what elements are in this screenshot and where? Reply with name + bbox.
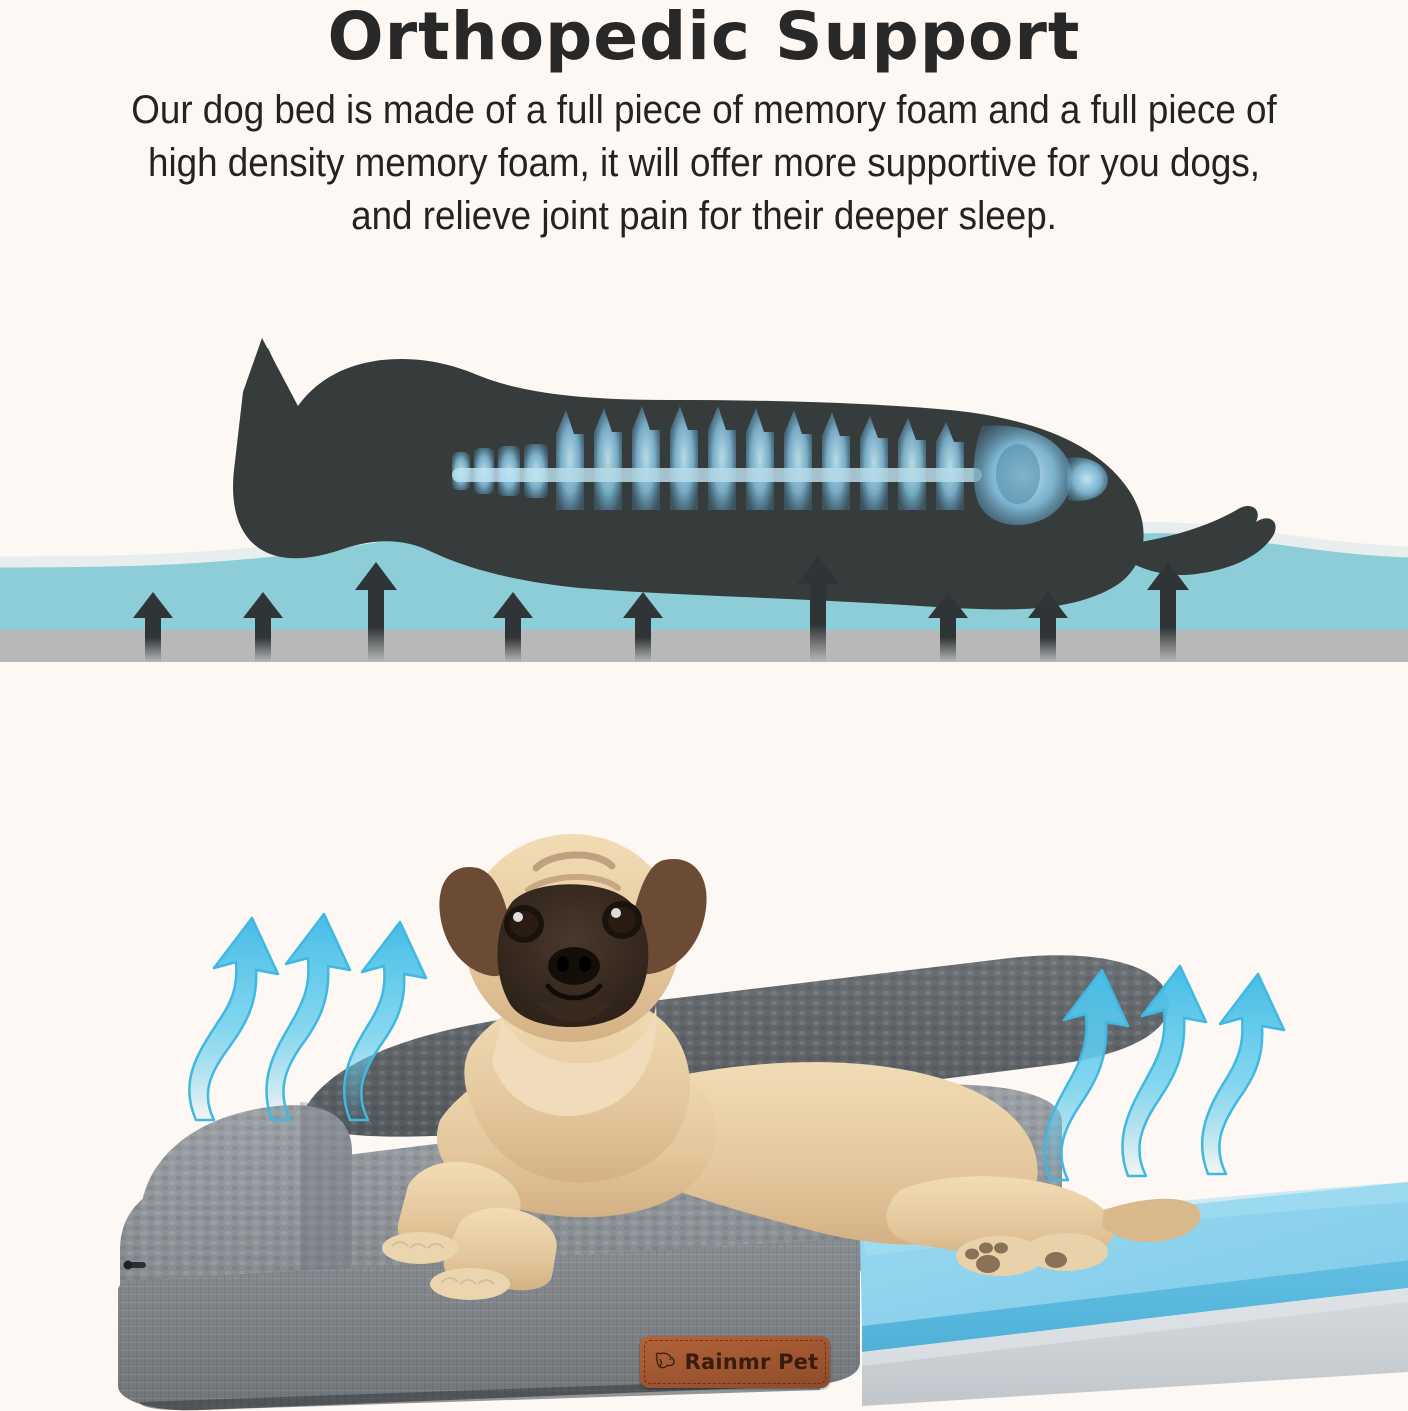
brand-label-patch: Rainmr Pet xyxy=(640,1336,830,1388)
dog-eye xyxy=(504,905,544,943)
product-feature-page: Orthopedic Support Our dog bed is made o… xyxy=(0,0,1408,1411)
header-block: Orthopedic Support Our dog bed is made o… xyxy=(0,0,1408,242)
airflow-arrows-right xyxy=(1044,966,1284,1180)
front-paw xyxy=(382,1232,458,1264)
dog-nose xyxy=(548,947,600,985)
subtitle-line-3: and relieve joint pain for their deeper … xyxy=(351,194,1057,238)
subtitle-line-1: Our dog bed is made of a full piece of m… xyxy=(131,88,1277,132)
page-subtitle: Our dog bed is made of a full piece of m… xyxy=(56,70,1351,242)
subtitle-line-2: high density memory foam, it will offer … xyxy=(148,141,1260,185)
dog-eye xyxy=(602,901,642,939)
spine-support-diagram xyxy=(0,330,1408,730)
dog-bed-product-photo xyxy=(0,790,1408,1411)
front-paw xyxy=(430,1268,510,1300)
dog-head-icon xyxy=(652,1349,678,1375)
page-title: Orthopedic Support xyxy=(0,0,1408,70)
airflow-arrow xyxy=(1202,974,1284,1174)
brand-label-text: Rainmr Pet xyxy=(685,1350,819,1374)
airflow-arrow xyxy=(189,918,278,1120)
hind-paw xyxy=(1024,1233,1108,1271)
